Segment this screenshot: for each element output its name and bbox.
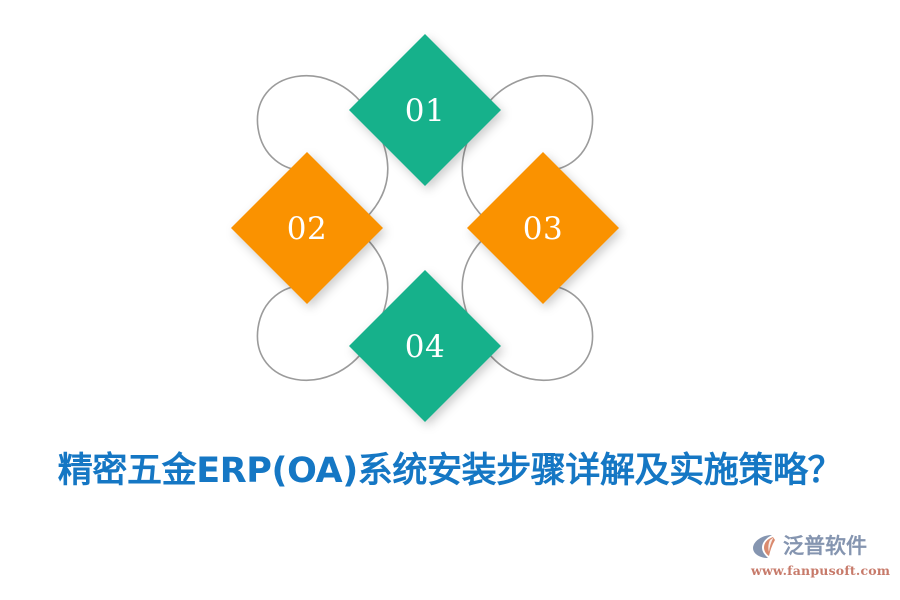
brand-logo-top-row: 泛普软件 — [750, 531, 867, 561]
diagram-container: 02 03 01 04 — [0, 0, 900, 445]
fanpu-swoosh-icon — [750, 531, 780, 561]
brand-logo[interactable]: 泛普软件 www.fanpusoft.com — [750, 531, 880, 578]
diamond-label-02: 02 — [287, 211, 327, 247]
diamond-label-01: 01 — [405, 93, 445, 129]
connector-arc-outer-top-right — [483, 76, 593, 170]
connector-arc-outer-bottom-left — [257, 286, 367, 380]
diamond-label-03: 03 — [523, 211, 563, 247]
page-title: 精密五金ERP(OA)系统安装步骤详解及实施策略？ — [0, 450, 900, 492]
diamond-label-04: 04 — [405, 329, 445, 365]
connector-arc-outer-top-left — [257, 76, 367, 170]
four-step-diamond-diagram: 02 03 01 04 — [0, 0, 900, 445]
brand-name: 泛普软件 — [783, 536, 867, 557]
brand-website: www.fanpusoft.com — [751, 563, 890, 578]
connector-arc-outer-bottom-right — [483, 286, 593, 380]
